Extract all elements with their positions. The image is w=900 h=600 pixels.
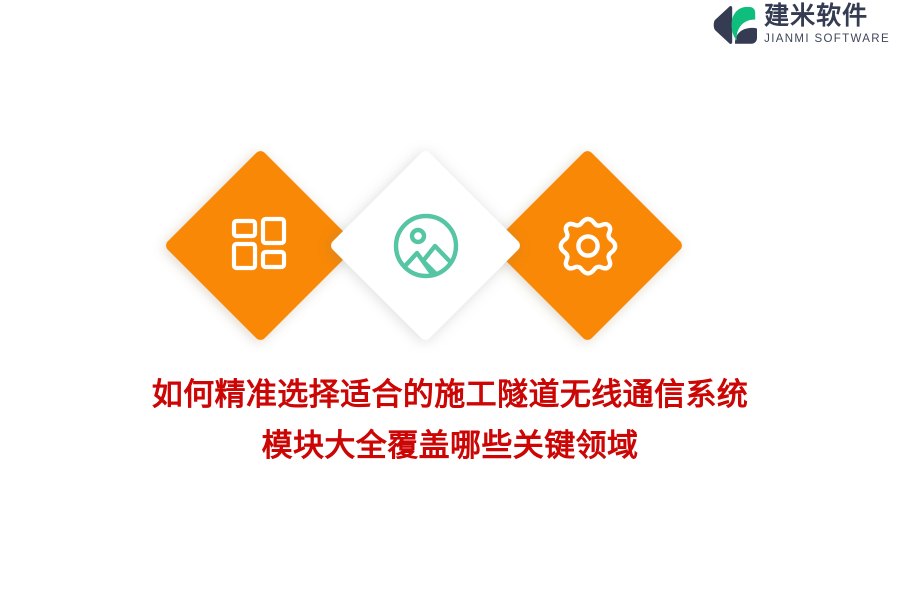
brand-logo[interactable]: 建米软件 JIANMI SOFTWARE — [712, 0, 890, 50]
brand-name-en: JIANMI SOFTWARE — [764, 32, 890, 47]
gear-settings-icon — [554, 212, 622, 280]
brand-text-block: 建米软件 JIANMI SOFTWARE — [764, 3, 890, 47]
banner-page: 建米软件 JIANMI SOFTWARE — [0, 0, 900, 600]
diamond-tile-row — [0, 146, 900, 346]
tile-dashboard[interactable] — [164, 149, 358, 343]
jianmi-logo-mark-icon — [712, 5, 758, 45]
tile-media-glyph — [357, 177, 494, 314]
page-title: 如何精准选择适合的施工隧道无线通信系统 模块大全覆盖哪些关键领域 — [0, 370, 900, 472]
tile-media[interactable] — [329, 149, 523, 343]
tile-settings-glyph — [519, 177, 656, 314]
image-picture-icon — [391, 211, 461, 281]
brand-name-cn: 建米软件 — [764, 3, 890, 29]
tile-dashboard-glyph — [192, 177, 329, 314]
page-title-line-2: 模块大全覆盖哪些关键领域 — [0, 421, 900, 472]
page-title-line-1: 如何精准选择适合的施工隧道无线通信系统 — [0, 370, 900, 421]
grid-dashboard-icon — [230, 215, 292, 277]
